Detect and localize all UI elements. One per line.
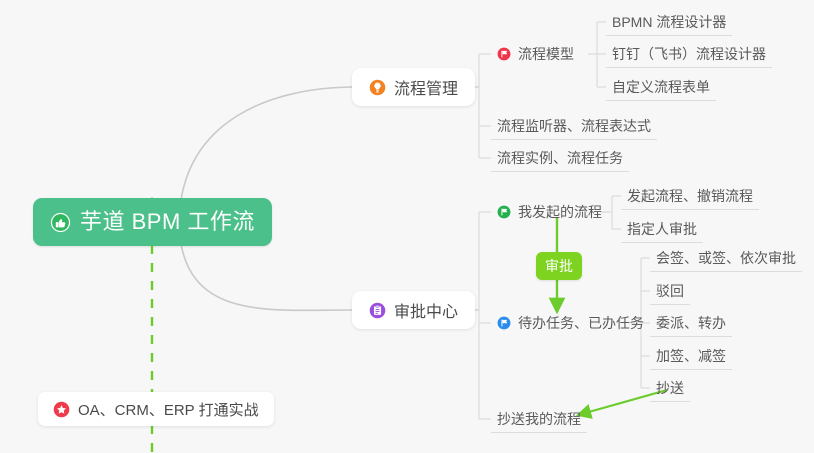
node-label: BPMN 流程设计器 bbox=[612, 12, 726, 32]
node-start-cancel-process[interactable]: 发起流程、撤销流程 bbox=[621, 182, 759, 210]
node-delegate-transfer[interactable]: 委派、转办 bbox=[650, 309, 732, 337]
node-process-instance-task[interactable]: 流程实例、流程任务 bbox=[491, 144, 629, 172]
node-label: 流程模型 bbox=[518, 44, 574, 64]
node-todo-done-tasks[interactable]: 待办任务、已办任务 bbox=[491, 309, 650, 337]
node-process-listener-expression[interactable]: 流程监听器、流程表达式 bbox=[491, 112, 657, 140]
node-cc-to-me-processes[interactable]: 抄送我的流程 bbox=[491, 405, 587, 433]
node-label: 抄送 bbox=[656, 378, 684, 398]
node-label: 抄送我的流程 bbox=[497, 409, 581, 429]
flag-icon bbox=[497, 47, 511, 61]
wire-root-to-approval-center bbox=[180, 237, 352, 310]
node-dingtalk-feishu-designer[interactable]: 钉钉（飞书）流程设计器 bbox=[606, 40, 772, 68]
node-label: 驳回 bbox=[656, 281, 684, 301]
node-cc[interactable]: 抄送 bbox=[650, 374, 690, 402]
node-assignee-approval[interactable]: 指定人审批 bbox=[621, 215, 703, 243]
approval-chip-label: 审批 bbox=[545, 256, 573, 276]
node-multi-sign-modes[interactable]: 会签、或签、依次审批 bbox=[650, 244, 802, 272]
node-label: 钉钉（飞书）流程设计器 bbox=[612, 44, 766, 64]
lightbulb-icon bbox=[369, 79, 386, 96]
branch-label: 流程管理 bbox=[394, 75, 458, 99]
flag-icon bbox=[497, 205, 511, 219]
node-add-remove-sign[interactable]: 加签、减签 bbox=[650, 342, 732, 370]
node-label: 委派、转办 bbox=[656, 313, 726, 333]
bottom-callout-card[interactable]: OA、CRM、ERP 打通实战 bbox=[38, 392, 274, 426]
node-bpmn-designer[interactable]: BPMN 流程设计器 bbox=[606, 8, 732, 36]
node-custom-process-form[interactable]: 自定义流程表单 bbox=[606, 73, 716, 101]
node-label: 待办任务、已办任务 bbox=[518, 313, 644, 333]
flag-icon bbox=[497, 316, 511, 330]
node-reject[interactable]: 驳回 bbox=[650, 277, 690, 305]
node-label: 流程监听器、流程表达式 bbox=[497, 116, 651, 136]
wire-root-to-process-management bbox=[180, 87, 352, 207]
node-label: 会签、或签、依次审批 bbox=[656, 248, 796, 268]
approval-chip[interactable]: 审批 bbox=[536, 252, 582, 280]
node-label: 发起流程、撤销流程 bbox=[627, 186, 753, 206]
node-label: 指定人审批 bbox=[627, 219, 697, 239]
bottom-callout-label: OA、CRM、ERP 打通实战 bbox=[78, 399, 259, 420]
branch-process-management[interactable]: 流程管理 bbox=[352, 68, 475, 106]
mindmap-canvas: 芋道 BPM 工作流 流程管理 流程模型 BPMN 流程设计器 钉钉（飞书）流程… bbox=[0, 0, 814, 453]
root-label: 芋道 BPM 工作流 bbox=[80, 211, 255, 233]
node-label: 我发起的流程 bbox=[518, 202, 602, 222]
node-label: 流程实例、流程任务 bbox=[497, 148, 623, 168]
thumbs-up-icon bbox=[50, 212, 71, 233]
node-label: 自定义流程表单 bbox=[612, 77, 710, 97]
branch-approval-center[interactable]: 审批中心 bbox=[352, 291, 475, 329]
clipboard-icon bbox=[369, 302, 386, 319]
node-process-model[interactable]: 流程模型 bbox=[491, 40, 580, 68]
node-label: 加签、减签 bbox=[656, 346, 726, 366]
root-node[interactable]: 芋道 BPM 工作流 bbox=[33, 198, 272, 246]
branch-label: 审批中心 bbox=[394, 298, 458, 322]
node-my-started-processes[interactable]: 我发起的流程 bbox=[491, 198, 608, 226]
star-icon bbox=[53, 401, 70, 418]
